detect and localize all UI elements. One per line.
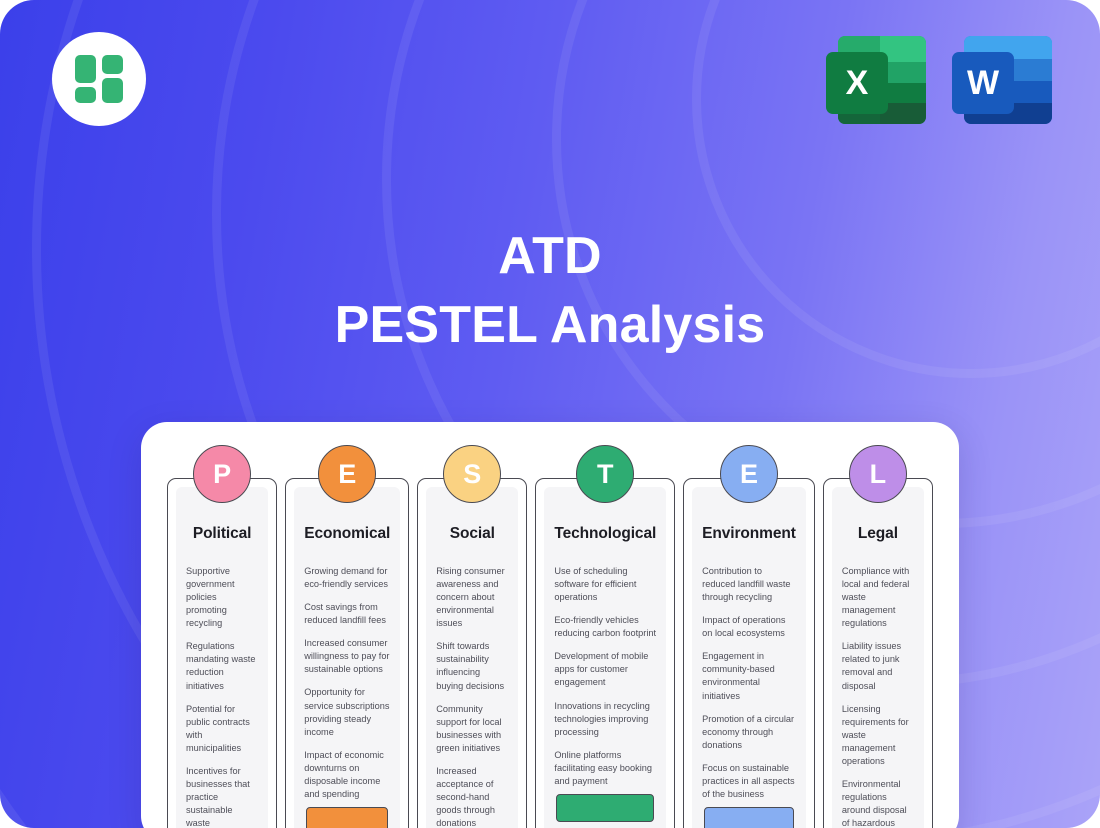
pestel-card: PoliticalSupportive government policies … — [141, 422, 959, 828]
point-item: Environmental regulations around disposa… — [842, 778, 914, 828]
excel-icon-letter: X — [826, 52, 888, 114]
point-item: Eco-friendly vehicles reducing carbon fo… — [554, 614, 656, 640]
column-panel: EnvironmentContribution to reduced landf… — [692, 487, 806, 828]
point-item: Shift towards sustainability influencing… — [436, 640, 508, 692]
column-card: LegalCompliance with local and federal w… — [823, 478, 933, 828]
point-item: Growing demand for eco-friendly services — [304, 565, 390, 591]
letter-badge-environment: E — [720, 445, 778, 503]
grid-logo-icon — [52, 32, 146, 126]
slide-canvas: X W ATD PESTEL Analysis PoliticalSupport… — [0, 0, 1100, 828]
point-item: Incentives for businesses that practice … — [186, 765, 258, 828]
point-item: Licensing requirements for waste managem… — [842, 703, 914, 768]
page-title: ATD PESTEL Analysis — [0, 222, 1100, 359]
logo-tile-top-left — [75, 55, 96, 83]
excel-icon[interactable]: X — [826, 30, 926, 130]
column-heading: Legal — [842, 525, 914, 543]
point-item: Focus on sustainable practices in all as… — [702, 762, 796, 801]
pestel-column-legal: LegalCompliance with local and federal w… — [823, 478, 933, 828]
point-item: Rising consumer awareness and concern ab… — [436, 565, 508, 630]
point-item: Development of mobile apps for customer … — [554, 650, 656, 689]
point-item: Impact of operations on local ecosystems — [702, 614, 796, 640]
title-line-2: PESTEL Analysis — [0, 291, 1100, 360]
column-card: EnvironmentContribution to reduced landf… — [683, 478, 815, 828]
column-color-bar — [556, 794, 654, 822]
point-item: Increased acceptance of second-hand good… — [436, 765, 508, 828]
column-points: Supportive government policies promoting… — [186, 565, 258, 828]
column-points: Compliance with local and federal waste … — [842, 565, 914, 828]
pestel-columns: PoliticalSupportive government policies … — [167, 478, 933, 828]
title-line-1: ATD — [498, 227, 602, 285]
point-item: Compliance with local and federal waste … — [842, 565, 914, 630]
column-heading: Economical — [304, 525, 390, 543]
letter-badge-technological: T — [576, 445, 634, 503]
word-icon-letter: W — [952, 52, 1014, 114]
column-points: Use of scheduling software for efficient… — [554, 565, 656, 788]
letter-badge-economical: E — [318, 445, 376, 503]
column-card: EconomicalGrowing demand for eco-friendl… — [285, 478, 409, 828]
letter-badge-legal: L — [849, 445, 907, 503]
column-points: Contribution to reduced landfill waste t… — [702, 565, 796, 801]
point-item: Impact of economic downturns on disposab… — [304, 749, 390, 801]
pestel-column-economical: EconomicalGrowing demand for eco-friendl… — [285, 478, 409, 828]
column-heading: Technological — [554, 525, 656, 543]
logo-tile-bottom-left — [75, 87, 96, 103]
column-heading: Social — [436, 525, 508, 543]
pestel-column-technological: TechnologicalUse of scheduling software … — [535, 478, 675, 828]
column-points: Growing demand for eco-friendly services… — [304, 565, 390, 801]
point-item: Contribution to reduced landfill waste t… — [702, 565, 796, 604]
column-points: Rising consumer awareness and concern ab… — [436, 565, 508, 828]
column-panel: EconomicalGrowing demand for eco-friendl… — [294, 487, 400, 828]
point-item: Cost savings from reduced landfill fees — [304, 601, 390, 627]
column-panel: SocialRising consumer awareness and conc… — [426, 487, 518, 828]
column-color-bar — [306, 807, 388, 828]
point-item: Increased consumer willingness to pay fo… — [304, 637, 390, 676]
column-color-bar — [704, 807, 794, 828]
column-panel: LegalCompliance with local and federal w… — [832, 487, 924, 828]
column-card: SocialRising consumer awareness and conc… — [417, 478, 527, 828]
point-item: Supportive government policies promoting… — [186, 565, 258, 630]
column-panel: TechnologicalUse of scheduling software … — [544, 487, 666, 828]
letter-badge-political: P — [193, 445, 251, 503]
point-item: Community support for local businesses w… — [436, 703, 508, 755]
point-item: Regulations mandating waste reduction in… — [186, 640, 258, 692]
point-item: Innovations in recycling technologies im… — [554, 700, 656, 739]
pestel-column-environment: EnvironmentContribution to reduced landf… — [683, 478, 815, 828]
column-card: PoliticalSupportive government policies … — [167, 478, 277, 828]
column-panel: PoliticalSupportive government policies … — [176, 487, 268, 828]
column-heading: Environment — [702, 525, 796, 543]
point-item: Opportunity for service subscriptions pr… — [304, 686, 390, 738]
pestel-column-social: SocialRising consumer awareness and conc… — [417, 478, 527, 828]
point-item: Liability issues related to junk removal… — [842, 640, 914, 692]
point-item: Engagement in community-based environmen… — [702, 650, 796, 702]
letter-badge-social: S — [443, 445, 501, 503]
point-item: Online platforms facilitating easy booki… — [554, 749, 656, 788]
pestel-column-political: PoliticalSupportive government policies … — [167, 478, 277, 828]
logo-tile-bottom-right — [102, 78, 123, 103]
point-item: Use of scheduling software for efficient… — [554, 565, 656, 604]
point-item: Promotion of a circular economy through … — [702, 713, 796, 752]
word-icon[interactable]: W — [952, 30, 1052, 130]
logo-tile-top-right — [102, 55, 123, 74]
logo-grid-shape — [75, 55, 123, 103]
export-format-icons: X W — [826, 30, 1052, 130]
column-heading: Political — [186, 525, 258, 543]
point-item: Potential for public contracts with muni… — [186, 703, 258, 755]
column-card: TechnologicalUse of scheduling software … — [535, 478, 675, 828]
